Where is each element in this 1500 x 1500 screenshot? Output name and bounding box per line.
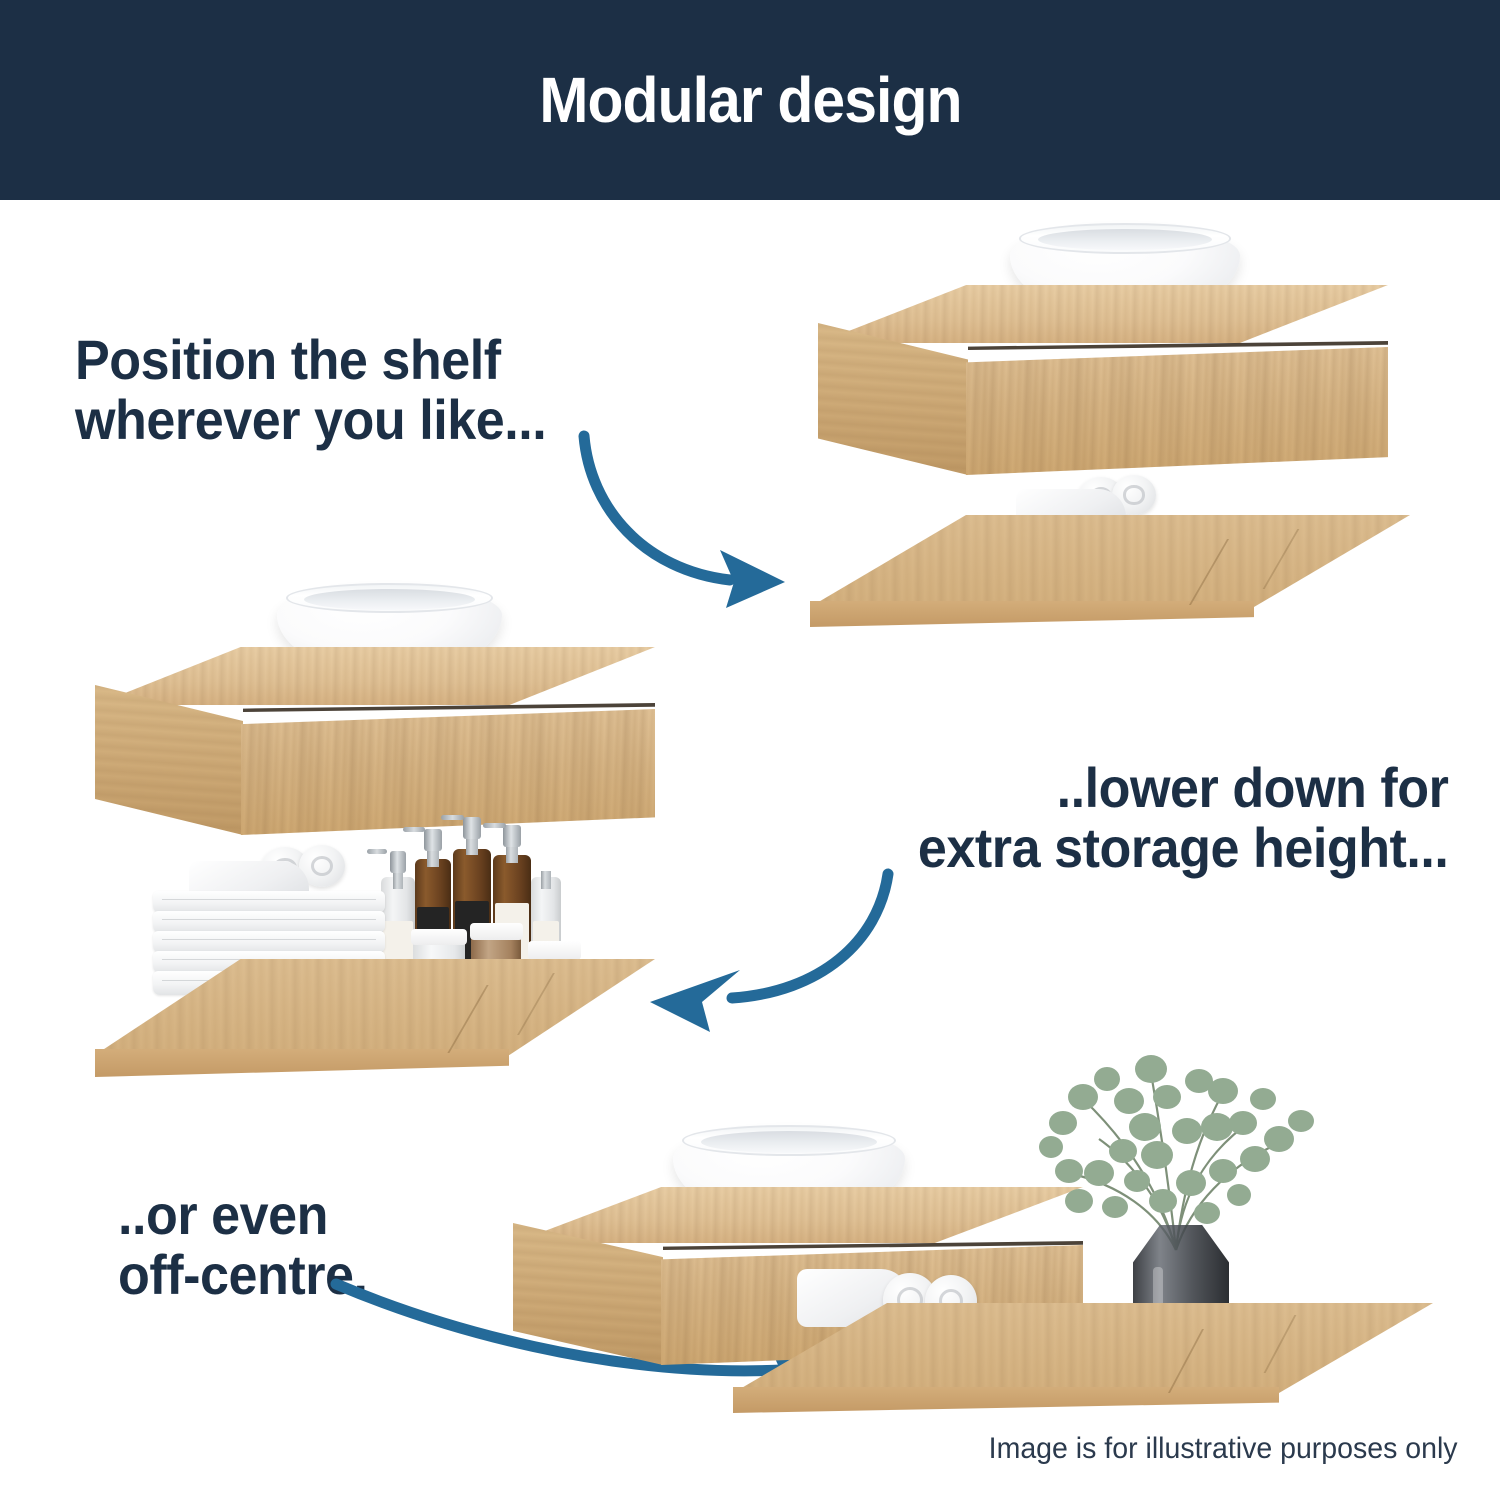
bottle-spout — [403, 827, 425, 832]
bottle-neck — [466, 837, 478, 855]
floating-shelf — [733, 1303, 1433, 1423]
vanity-side-panel — [513, 1223, 663, 1365]
callout-lower-down-line1: ..lower down for — [917, 758, 1448, 818]
jar-lid — [470, 923, 523, 940]
smoked-glass-vase-with-eucalyptus — [1107, 1035, 1257, 1335]
vanity-side-panel — [818, 323, 968, 475]
vanity-top-surface — [513, 1187, 1083, 1243]
bottle-spout — [367, 849, 387, 854]
jar-lid — [411, 929, 466, 945]
callout-position-shelf-line2: wherever you like... — [75, 390, 546, 450]
floating-shelf — [810, 515, 1410, 635]
disclaimer-text: Image is for illustrative purposes only — [989, 1432, 1458, 1466]
bottle-spout — [483, 823, 506, 828]
callout-position-shelf: Position the shelf wherever you like... — [75, 330, 546, 451]
callout-off-centre-line1: ..or even — [118, 1185, 368, 1245]
vanity-side-panel — [95, 685, 243, 835]
bottle-pump — [390, 851, 406, 873]
shelf-front-edge — [810, 601, 1254, 627]
bottle-neck — [393, 871, 404, 889]
basin-rim-inner — [701, 1131, 877, 1153]
vanity-unit — [95, 647, 655, 847]
callout-position-shelf-line1: Position the shelf — [75, 330, 546, 390]
basin-rim-inner — [304, 589, 475, 610]
bottle-pump — [424, 829, 441, 851]
jar-lid — [528, 941, 581, 960]
scene-position-shelf — [810, 225, 1420, 645]
vanity-top-surface — [95, 647, 655, 705]
scene-off-centre — [495, 1035, 1430, 1425]
bottle-neck — [541, 871, 551, 889]
bottle-neck — [506, 845, 518, 863]
basin-rim-inner — [1038, 229, 1213, 251]
folded-towel — [153, 891, 385, 913]
bottle-pump — [503, 825, 521, 847]
bottle-pump — [463, 817, 481, 839]
callout-lower-down: ..lower down for extra storage height... — [917, 758, 1448, 879]
shelf-top-surface — [733, 1303, 1433, 1393]
shelf-front-edge — [733, 1387, 1279, 1413]
shelf-front-edge — [95, 1049, 509, 1077]
vanity-unit — [818, 285, 1388, 485]
folded-towel — [153, 911, 385, 933]
header-banner: Modular design — [0, 0, 1500, 200]
callout-lower-down-line2: extra storage height... — [917, 818, 1448, 878]
shelf-top-surface — [810, 515, 1410, 607]
bottle-neck — [427, 849, 439, 867]
vanity-top-surface — [818, 285, 1388, 343]
vanity-drawer-front — [966, 347, 1388, 475]
arrow-to-top-shelf-icon — [580, 430, 840, 610]
infographic-page: Modular design Position the shelf wherev… — [0, 0, 1500, 1500]
eucalyptus-stems-icon — [1011, 1035, 1341, 1255]
bottle-spout — [441, 815, 464, 820]
folded-towel — [153, 931, 385, 953]
page-title: Modular design — [539, 68, 961, 132]
scene-lower-down — [95, 585, 665, 1085]
